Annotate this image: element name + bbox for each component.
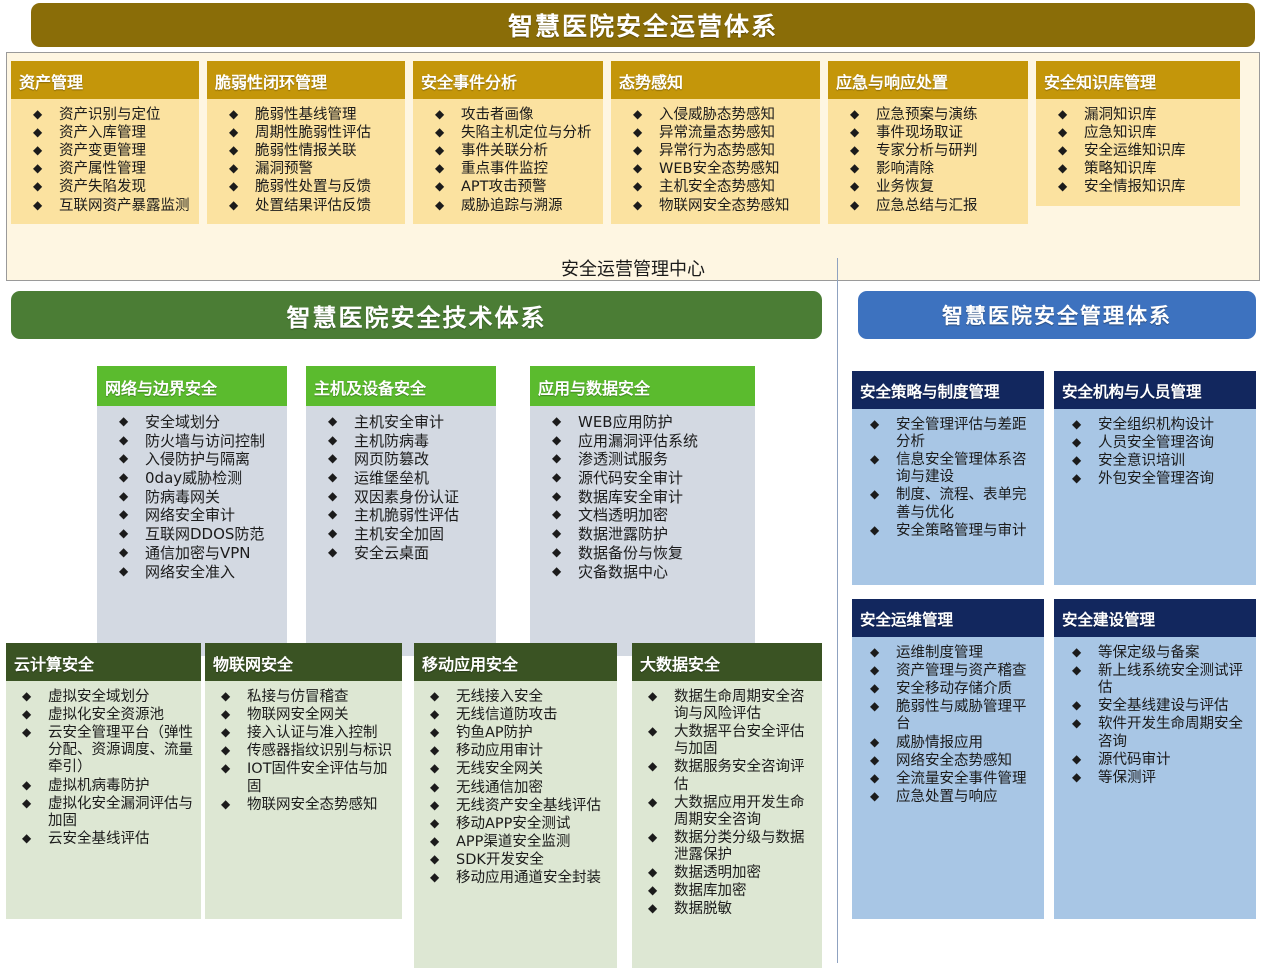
diamond-bullet-icon: ◆ bbox=[850, 107, 876, 122]
list-item-label: 传感器指纹识别与标识 bbox=[247, 743, 396, 760]
list-item[interactable]: ◆通信加密与VPN bbox=[101, 545, 281, 563]
list-item-label: 外包安全管理咨询 bbox=[1098, 471, 1250, 488]
diamond-bullet-icon: ◆ bbox=[119, 451, 145, 466]
list-item-label: 数据库安全审计 bbox=[578, 489, 749, 507]
list-item[interactable]: ◆应急处置与响应 bbox=[856, 789, 1038, 806]
list-item-label: 资产失陷发现 bbox=[59, 179, 193, 196]
list-item[interactable]: ◆安全基线建设与评估 bbox=[1058, 698, 1250, 715]
item-list: ◆安全组织机构设计◆人员安全管理咨询◆安全意识培训◆外包安全管理咨询 bbox=[1058, 417, 1250, 488]
list-item-label: 虚拟机病毒防护 bbox=[48, 778, 195, 795]
list-item[interactable]: ◆无线资产安全基线评估 bbox=[418, 798, 611, 815]
ops-card-emergency-response[interactable]: 应急与响应处置 ◆应急预案与演练◆事件现场取证◆专家分析与研判◆影响清除◆业务恢… bbox=[828, 61, 1028, 224]
ops-card-knowledge-base[interactable]: 安全知识库管理 ◆漏洞知识库◆应急知识库◆安全运维知识库◆策略知识库◆安全情报知… bbox=[1036, 61, 1240, 206]
card-title: 云计算安全 bbox=[6, 643, 201, 681]
list-item[interactable]: ◆资产入库管理 bbox=[15, 125, 193, 142]
diamond-bullet-icon: ◆ bbox=[850, 198, 876, 213]
list-item-label: 事件现场取证 bbox=[876, 125, 1022, 142]
list-item[interactable]: ◆漏洞预警 bbox=[211, 161, 399, 178]
list-item-label: 物联网安全态势感知 bbox=[659, 198, 814, 215]
list-item[interactable]: ◆等保定级与备案 bbox=[1058, 645, 1250, 662]
diamond-bullet-icon: ◆ bbox=[850, 125, 876, 140]
list-item-label: 私接与仿冒稽查 bbox=[247, 689, 396, 706]
list-item-label: 渗透测试服务 bbox=[578, 451, 749, 469]
list-item-label: 安全云桌面 bbox=[354, 545, 490, 563]
list-item[interactable]: ◆SDK开发安全 bbox=[418, 852, 611, 869]
list-item[interactable]: ◆资产失陷发现 bbox=[15, 179, 193, 196]
list-item[interactable]: ◆资产识别与定位 bbox=[15, 107, 193, 124]
list-item[interactable]: ◆防火墙与访问控制 bbox=[101, 433, 281, 451]
list-item[interactable]: ◆应急知识库 bbox=[1040, 125, 1234, 142]
diamond-bullet-icon: ◆ bbox=[430, 870, 456, 885]
list-item[interactable]: ◆策略知识库 bbox=[1040, 161, 1234, 178]
list-item[interactable]: ◆周期性脆弱性评估 bbox=[211, 125, 399, 142]
list-item[interactable]: ◆数据库安全审计 bbox=[534, 489, 749, 507]
list-item-label: WEB安全态势感知 bbox=[659, 161, 814, 178]
diamond-bullet-icon: ◆ bbox=[435, 161, 461, 176]
list-item[interactable]: ◆IOT固件安全评估与加固 bbox=[209, 761, 396, 795]
diamond-bullet-icon: ◆ bbox=[870, 487, 896, 502]
card-title: 脆弱性闭环管理 bbox=[207, 61, 405, 99]
list-item[interactable]: ◆灾备数据中心 bbox=[534, 564, 749, 582]
diamond-bullet-icon: ◆ bbox=[435, 143, 461, 158]
diamond-bullet-icon: ◆ bbox=[221, 707, 247, 722]
list-item[interactable]: ◆移动应用审计 bbox=[418, 743, 611, 760]
diamond-bullet-icon: ◆ bbox=[430, 780, 456, 795]
list-item[interactable]: ◆虚拟安全域划分 bbox=[10, 689, 195, 706]
item-list: ◆无线接入安全◆无线信道防攻击◆钓鱼AP防护◆移动应用审计◆无线安全网关◆无线通… bbox=[418, 689, 611, 887]
diamond-bullet-icon: ◆ bbox=[221, 761, 247, 776]
list-item[interactable]: ◆脆弱性与威胁管理平台 bbox=[856, 699, 1038, 733]
list-item[interactable]: ◆物联网安全网关 bbox=[209, 707, 396, 724]
list-item-label: 安全运维知识库 bbox=[1084, 143, 1234, 160]
list-item[interactable]: ◆虚拟化安全资源池 bbox=[10, 707, 195, 724]
card-body: ◆安全管理评估与差距分析◆信息安全管理体系咨询与建设◆制度、流程、表单完善与优化… bbox=[852, 409, 1044, 585]
card-title: 安全运维管理 bbox=[852, 599, 1044, 637]
card-title: 安全事件分析 bbox=[413, 61, 603, 99]
list-item-label: 威胁情报应用 bbox=[896, 735, 1038, 752]
list-item[interactable]: ◆移动APP安全测试 bbox=[418, 816, 611, 833]
list-item-label: 人员安全管理咨询 bbox=[1098, 435, 1250, 452]
diamond-bullet-icon: ◆ bbox=[33, 179, 59, 194]
list-item[interactable]: ◆大数据平台安全评估与加固 bbox=[636, 724, 816, 758]
diamond-bullet-icon: ◆ bbox=[328, 470, 354, 485]
list-item[interactable]: ◆应用漏洞评估系统 bbox=[534, 433, 749, 451]
list-item[interactable]: ◆无线接入安全 bbox=[418, 689, 611, 706]
list-item[interactable]: ◆无线通信加密 bbox=[418, 780, 611, 797]
diamond-bullet-icon: ◆ bbox=[22, 778, 48, 793]
diamond-bullet-icon: ◆ bbox=[430, 816, 456, 831]
list-item[interactable]: ◆安全运维知识库 bbox=[1040, 143, 1234, 160]
list-item[interactable]: ◆安全管理评估与差距分析 bbox=[856, 417, 1038, 451]
item-list: ◆攻击者画像◆失陷主机定位与分析◆事件关联分析◆重点事件监控◆APT攻击预警◆威… bbox=[417, 107, 597, 215]
diamond-bullet-icon: ◆ bbox=[328, 489, 354, 504]
list-item-label: 网页防篡改 bbox=[354, 451, 490, 469]
list-item[interactable]: ◆脆弱性基线管理 bbox=[211, 107, 399, 124]
card-title: 安全机构与人员管理 bbox=[1054, 371, 1256, 409]
list-item[interactable]: ◆数据库加密 bbox=[636, 883, 816, 900]
diamond-bullet-icon: ◆ bbox=[1058, 179, 1084, 194]
list-item-label: APP渠道安全监测 bbox=[456, 834, 611, 851]
diamond-bullet-icon: ◆ bbox=[633, 161, 659, 176]
card-title: 移动应用安全 bbox=[414, 643, 617, 681]
diamond-bullet-icon: ◆ bbox=[22, 725, 48, 740]
mgmt-card-organization-personnel-management[interactable]: 安全机构与人员管理 ◆安全组织机构设计◆人员安全管理咨询◆安全意识培训◆外包安全… bbox=[1054, 371, 1256, 585]
list-item-label: 主机防病毒 bbox=[354, 433, 490, 451]
list-item-label: 移动应用审计 bbox=[456, 743, 611, 760]
tech-card-big-data-security[interactable]: 大数据安全 ◆数据生命周期安全咨询与风险评估◆大数据平台安全评估与加固◆数据服务… bbox=[632, 643, 822, 968]
list-item[interactable]: ◆主机脆弱性评估 bbox=[310, 507, 490, 525]
card-title: 物联网安全 bbox=[205, 643, 402, 681]
list-item[interactable]: ◆云安全基线评估 bbox=[10, 831, 195, 848]
list-item-label: 全流量安全事件管理 bbox=[896, 771, 1038, 788]
diamond-bullet-icon: ◆ bbox=[33, 107, 59, 122]
list-item[interactable]: ◆安全移动存储介质 bbox=[856, 681, 1038, 698]
list-item[interactable]: ◆网络安全审计 bbox=[101, 507, 281, 525]
list-item-label: 威胁追踪与溯源 bbox=[461, 198, 597, 215]
list-item-label: 安全管理评估与差距分析 bbox=[896, 417, 1038, 451]
list-item-label: 软件开发生命周期安全咨询 bbox=[1098, 716, 1250, 750]
list-item-label: 数据库加密 bbox=[674, 883, 816, 900]
ops-card-security-incident-analysis[interactable]: 安全事件分析 ◆攻击者画像◆失陷主机定位与分析◆事件关联分析◆重点事件监控◆AP… bbox=[413, 61, 603, 224]
list-item-label: 源代码审计 bbox=[1098, 752, 1250, 769]
list-item-label: 主机脆弱性评估 bbox=[354, 507, 490, 525]
list-item[interactable]: ◆资产属性管理 bbox=[15, 161, 193, 178]
diamond-bullet-icon: ◆ bbox=[870, 789, 896, 804]
list-item-label: 脆弱性基线管理 bbox=[255, 107, 399, 124]
list-item[interactable]: ◆影响清除 bbox=[832, 161, 1022, 178]
list-item-label: 资产识别与定位 bbox=[59, 107, 193, 124]
list-item-label: 脆弱性处置与反馈 bbox=[255, 179, 399, 196]
diamond-bullet-icon: ◆ bbox=[430, 798, 456, 813]
diamond-bullet-icon: ◆ bbox=[633, 179, 659, 194]
list-item[interactable]: ◆互联网DDOS防范 bbox=[101, 526, 281, 544]
list-item-label: 网络安全态势感知 bbox=[896, 753, 1038, 770]
list-item[interactable]: ◆处置结果评估反馈 bbox=[211, 198, 399, 215]
list-item[interactable]: ◆接入认证与准入控制 bbox=[209, 725, 396, 742]
card-body: ◆主机安全审计◆主机防病毒◆网页防篡改◆运维堡垒机◆双因素身份认证◆主机脆弱性评… bbox=[306, 406, 496, 656]
list-item-label: 主机安全态势感知 bbox=[659, 179, 814, 196]
diamond-bullet-icon: ◆ bbox=[552, 545, 578, 560]
list-item[interactable]: ◆物联网安全态势感知 bbox=[615, 198, 814, 215]
diamond-bullet-icon: ◆ bbox=[552, 414, 578, 429]
card-body: ◆漏洞知识库◆应急知识库◆安全运维知识库◆策略知识库◆安全情报知识库 bbox=[1036, 99, 1240, 206]
list-item-label: 网络安全审计 bbox=[145, 507, 281, 525]
list-item[interactable]: ◆钓鱼AP防护 bbox=[418, 725, 611, 742]
item-list: ◆等保定级与备案◆新上线系统安全测试评估◆安全基线建设与评估◆软件开发生命周期安… bbox=[1058, 645, 1250, 787]
list-item-label: 移动APP安全测试 bbox=[456, 816, 611, 833]
list-item-label: 文档透明加密 bbox=[578, 507, 749, 525]
list-item[interactable]: ◆数据泄露防护 bbox=[534, 526, 749, 544]
mgmt-card-security-operations-management[interactable]: 安全运维管理 ◆运维制度管理◆资产管理与资产稽查◆安全移动存储介质◆脆弱性与威胁… bbox=[852, 599, 1044, 919]
list-item-label: SDK开发安全 bbox=[456, 852, 611, 869]
diamond-bullet-icon: ◆ bbox=[33, 161, 59, 176]
list-item-label: 云安全基线评估 bbox=[48, 831, 195, 848]
list-item[interactable]: ◆安全组织机构设计 bbox=[1058, 417, 1250, 434]
list-item[interactable]: ◆业务恢复 bbox=[832, 179, 1022, 196]
list-item[interactable]: ◆数据服务安全咨询评估 bbox=[636, 759, 816, 793]
list-item[interactable]: ◆无线安全网关 bbox=[418, 761, 611, 778]
operations-center-label: 安全运营管理中心 bbox=[6, 255, 1260, 281]
list-item[interactable]: ◆人员安全管理咨询 bbox=[1058, 435, 1250, 452]
diamond-bullet-icon: ◆ bbox=[1058, 161, 1084, 176]
item-list: ◆运维制度管理◆资产管理与资产稽查◆安全移动存储介质◆脆弱性与威胁管理平台◆威胁… bbox=[856, 645, 1038, 806]
list-item[interactable]: ◆攻击者画像 bbox=[417, 107, 597, 124]
ops-card-situational-awareness[interactable]: 态势感知 ◆入侵威胁态势感知◆异常流量态势感知◆异常行为态势感知◆WEB安全态势… bbox=[611, 61, 820, 224]
tech-card-host-device-security[interactable]: 主机及设备安全 ◆主机安全审计◆主机防病毒◆网页防篡改◆运维堡垒机◆双因素身份认… bbox=[306, 366, 496, 656]
list-item[interactable]: ◆资产变更管理 bbox=[15, 143, 193, 160]
diamond-bullet-icon: ◆ bbox=[119, 545, 145, 560]
list-item[interactable]: ◆制度、流程、表单完善与优化 bbox=[856, 487, 1038, 521]
list-item[interactable]: ◆漏洞知识库 bbox=[1040, 107, 1234, 124]
list-item-label: 安全组织机构设计 bbox=[1098, 417, 1250, 434]
diamond-bullet-icon: ◆ bbox=[633, 198, 659, 213]
card-title: 大数据安全 bbox=[632, 643, 822, 681]
card-title: 网络与边界安全 bbox=[97, 366, 287, 406]
list-item-label: 应急处置与响应 bbox=[896, 789, 1038, 806]
diamond-bullet-icon: ◆ bbox=[648, 901, 674, 916]
diamond-bullet-icon: ◆ bbox=[435, 179, 461, 194]
list-item-label: 云安全管理平台（弹性分配、资源调度、流量牵引） bbox=[48, 725, 195, 776]
list-item[interactable]: ◆网络安全态势感知 bbox=[856, 753, 1038, 770]
diamond-bullet-icon: ◆ bbox=[1072, 453, 1098, 468]
list-item-label: 漏洞预警 bbox=[255, 161, 399, 178]
card-title: 安全策略与制度管理 bbox=[852, 371, 1044, 409]
diamond-bullet-icon: ◆ bbox=[430, 725, 456, 740]
diamond-bullet-icon: ◆ bbox=[870, 645, 896, 660]
diamond-bullet-icon: ◆ bbox=[33, 198, 59, 213]
list-item-label: 等保测评 bbox=[1098, 770, 1250, 787]
list-item-label: 应急总结与汇报 bbox=[876, 198, 1022, 215]
list-item[interactable]: ◆源代码审计 bbox=[1058, 752, 1250, 769]
list-item[interactable]: ◆重点事件监控 bbox=[417, 161, 597, 178]
list-item[interactable]: ◆资产管理与资产稽查 bbox=[856, 663, 1038, 680]
diamond-bullet-icon: ◆ bbox=[22, 689, 48, 704]
list-item[interactable]: ◆网页防篡改 bbox=[310, 451, 490, 469]
list-item[interactable]: ◆入侵威胁态势感知 bbox=[615, 107, 814, 124]
diamond-bullet-icon: ◆ bbox=[119, 489, 145, 504]
list-item[interactable]: ◆防病毒网关 bbox=[101, 489, 281, 507]
card-body: ◆等保定级与备案◆新上线系统安全测试评估◆安全基线建设与评估◆软件开发生命周期安… bbox=[1054, 637, 1256, 919]
list-item-label: 防病毒网关 bbox=[145, 489, 281, 507]
diamond-bullet-icon: ◆ bbox=[648, 689, 674, 704]
diamond-bullet-icon: ◆ bbox=[328, 414, 354, 429]
list-item-label: 攻击者画像 bbox=[461, 107, 597, 124]
diamond-bullet-icon: ◆ bbox=[648, 865, 674, 880]
list-item[interactable]: ◆传感器指纹识别与标识 bbox=[209, 743, 396, 760]
diamond-bullet-icon: ◆ bbox=[1072, 752, 1098, 767]
list-item[interactable]: ◆安全云桌面 bbox=[310, 545, 490, 563]
tech-card-iot-security[interactable]: 物联网安全 ◆私接与仿冒稽查◆物联网安全网关◆接入认证与准入控制◆传感器指纹识别… bbox=[205, 643, 402, 919]
list-item[interactable]: ◆运维堡垒机 bbox=[310, 470, 490, 488]
list-item[interactable]: ◆软件开发生命周期安全咨询 bbox=[1058, 716, 1250, 750]
list-item[interactable]: ◆主机安全加固 bbox=[310, 526, 490, 544]
diamond-bullet-icon: ◆ bbox=[1058, 143, 1084, 158]
list-item-label: 无线资产安全基线评估 bbox=[456, 798, 611, 815]
list-item[interactable]: ◆主机安全态势感知 bbox=[615, 179, 814, 196]
list-item-label: 处置结果评估反馈 bbox=[255, 198, 399, 215]
list-item[interactable]: ◆数据备份与恢复 bbox=[534, 545, 749, 563]
list-item[interactable]: ◆大数据应用开发生命周期安全咨询 bbox=[636, 795, 816, 829]
list-item[interactable]: ◆信息安全管理体系咨询与建设 bbox=[856, 452, 1038, 486]
list-item[interactable]: ◆全流量安全事件管理 bbox=[856, 771, 1038, 788]
list-item[interactable]: ◆互联网资产暴露监测 bbox=[15, 198, 193, 215]
card-body: ◆运维制度管理◆资产管理与资产稽查◆安全移动存储介质◆脆弱性与威胁管理平台◆威胁… bbox=[852, 637, 1044, 919]
card-title: 安全建设管理 bbox=[1054, 599, 1256, 637]
tech-card-mobile-application-security[interactable]: 移动应用安全 ◆无线接入安全◆无线信道防攻击◆钓鱼AP防护◆移动应用审计◆无线安… bbox=[414, 643, 617, 968]
list-item-label: 灾备数据中心 bbox=[578, 564, 749, 582]
list-item-label: 资产变更管理 bbox=[59, 143, 193, 160]
list-item-label: 安全情报知识库 bbox=[1084, 179, 1234, 196]
list-item[interactable]: ◆脆弱性处置与反馈 bbox=[211, 179, 399, 196]
diamond-bullet-icon: ◆ bbox=[119, 433, 145, 448]
list-item-label: 脆弱性与威胁管理平台 bbox=[896, 699, 1038, 733]
list-item[interactable]: ◆威胁情报应用 bbox=[856, 735, 1038, 752]
diamond-bullet-icon: ◆ bbox=[229, 107, 255, 122]
list-item[interactable]: ◆应急总结与汇报 bbox=[832, 198, 1022, 215]
list-item-label: 无线通信加密 bbox=[456, 780, 611, 797]
list-item[interactable]: ◆移动应用通道安全封装 bbox=[418, 870, 611, 887]
list-item[interactable]: ◆事件现场取证 bbox=[832, 125, 1022, 142]
list-item[interactable]: ◆新上线系统安全测试评估 bbox=[1058, 663, 1250, 697]
diamond-bullet-icon: ◆ bbox=[633, 125, 659, 140]
list-item[interactable]: ◆数据分类分级与数据泄露保护 bbox=[636, 830, 816, 864]
list-item[interactable]: ◆入侵防护与隔离 bbox=[101, 451, 281, 469]
item-list: ◆入侵威胁态势感知◆异常流量态势感知◆异常行为态势感知◆WEB安全态势感知◆主机… bbox=[615, 107, 814, 215]
list-item[interactable]: ◆事件关联分析 bbox=[417, 143, 597, 160]
mgmt-card-policy-system-management[interactable]: 安全策略与制度管理 ◆安全管理评估与差距分析◆信息安全管理体系咨询与建设◆制度、… bbox=[852, 371, 1044, 585]
list-item[interactable]: ◆网络安全准入 bbox=[101, 564, 281, 582]
list-item-label: 影响清除 bbox=[876, 161, 1022, 178]
diamond-bullet-icon: ◆ bbox=[648, 830, 674, 845]
list-item[interactable]: ◆文档透明加密 bbox=[534, 507, 749, 525]
list-item-label: 互联网DDOS防范 bbox=[145, 526, 281, 544]
diamond-bullet-icon: ◆ bbox=[229, 125, 255, 140]
list-item[interactable]: ◆安全域划分 bbox=[101, 414, 281, 432]
list-item[interactable]: ◆异常流量态势感知 bbox=[615, 125, 814, 142]
diamond-bullet-icon: ◆ bbox=[870, 771, 896, 786]
list-item-label: 双因素身份认证 bbox=[354, 489, 490, 507]
list-item-label: 专家分析与研判 bbox=[876, 143, 1022, 160]
list-item[interactable]: ◆数据透明加密 bbox=[636, 865, 816, 882]
list-item[interactable]: ◆专家分析与研判 bbox=[832, 143, 1022, 160]
list-item[interactable]: ◆WEB安全态势感知 bbox=[615, 161, 814, 178]
diamond-bullet-icon: ◆ bbox=[1072, 698, 1098, 713]
diamond-bullet-icon: ◆ bbox=[648, 795, 674, 810]
diamond-bullet-icon: ◆ bbox=[1072, 770, 1098, 785]
list-item[interactable]: ◆脆弱性情报关联 bbox=[211, 143, 399, 160]
list-item[interactable]: ◆失陷主机定位与分析 bbox=[417, 125, 597, 142]
list-item[interactable]: ◆私接与仿冒稽查 bbox=[209, 689, 396, 706]
diamond-bullet-icon: ◆ bbox=[552, 451, 578, 466]
list-item[interactable]: ◆APT攻击预警 bbox=[417, 179, 597, 196]
list-item[interactable]: ◆数据生命周期安全咨询与风险评估 bbox=[636, 689, 816, 723]
item-list: ◆脆弱性基线管理◆周期性脆弱性评估◆脆弱性情报关联◆漏洞预警◆脆弱性处置与反馈◆… bbox=[211, 107, 399, 215]
list-item-label: 异常行为态势感知 bbox=[659, 143, 814, 160]
mgmt-card-security-construction-management[interactable]: 安全建设管理 ◆等保定级与备案◆新上线系统安全测试评估◆安全基线建设与评估◆软件… bbox=[1054, 599, 1256, 919]
list-item[interactable]: ◆威胁追踪与溯源 bbox=[417, 198, 597, 215]
section-divider bbox=[837, 258, 838, 963]
list-item[interactable]: ◆运维制度管理 bbox=[856, 645, 1038, 662]
diamond-bullet-icon: ◆ bbox=[328, 507, 354, 522]
diamond-bullet-icon: ◆ bbox=[119, 564, 145, 579]
tech-card-application-data-security[interactable]: 应用与数据安全 ◆WEB应用防护◆应用漏洞评估系统◆渗透测试服务◆源代码安全审计… bbox=[530, 366, 755, 656]
diamond-bullet-icon: ◆ bbox=[33, 143, 59, 158]
diamond-bullet-icon: ◆ bbox=[870, 663, 896, 678]
list-item-label: 事件关联分析 bbox=[461, 143, 597, 160]
list-item-label: 异常流量态势感知 bbox=[659, 125, 814, 142]
list-item[interactable]: ◆0day威胁检测 bbox=[101, 470, 281, 488]
list-item[interactable]: ◆异常行为态势感知 bbox=[615, 143, 814, 160]
list-item[interactable]: ◆双因素身份认证 bbox=[310, 489, 490, 507]
list-item[interactable]: ◆APP渠道安全监测 bbox=[418, 834, 611, 851]
list-item-label: 虚拟安全域划分 bbox=[48, 689, 195, 706]
diamond-bullet-icon: ◆ bbox=[870, 417, 896, 432]
diamond-bullet-icon: ◆ bbox=[328, 526, 354, 541]
card-body: ◆脆弱性基线管理◆周期性脆弱性评估◆脆弱性情报关联◆漏洞预警◆脆弱性处置与反馈◆… bbox=[207, 99, 405, 224]
card-body: ◆虚拟安全域划分◆虚拟化安全资源池◆云安全管理平台（弹性分配、资源调度、流量牵引… bbox=[6, 681, 201, 919]
ops-card-asset-management[interactable]: 资产管理 ◆资产识别与定位◆资产入库管理◆资产变更管理◆资产属性管理◆资产失陷发… bbox=[11, 61, 199, 224]
list-item-label: 资产入库管理 bbox=[59, 125, 193, 142]
list-item[interactable]: ◆物联网安全态势感知 bbox=[209, 797, 396, 814]
list-item[interactable]: ◆无线信道防攻击 bbox=[418, 707, 611, 724]
diamond-bullet-icon: ◆ bbox=[119, 470, 145, 485]
list-item-label: 网络安全准入 bbox=[145, 564, 281, 582]
list-item[interactable]: ◆主机防病毒 bbox=[310, 433, 490, 451]
tech-card-network-boundary-security[interactable]: 网络与边界安全 ◆安全域划分◆防火墙与访问控制◆入侵防护与隔离◆0day威胁检测… bbox=[97, 366, 287, 656]
list-item[interactable]: ◆安全情报知识库 bbox=[1040, 179, 1234, 196]
list-item-label: 安全移动存储介质 bbox=[896, 681, 1038, 698]
list-item-label: 新上线系统安全测试评估 bbox=[1098, 663, 1250, 697]
list-item-label: 失陷主机定位与分析 bbox=[461, 125, 597, 142]
list-item[interactable]: ◆WEB应用防护 bbox=[534, 414, 749, 432]
list-item-label: 业务恢复 bbox=[876, 179, 1022, 196]
diamond-bullet-icon: ◆ bbox=[229, 143, 255, 158]
list-item[interactable]: ◆数据脱敏 bbox=[636, 901, 816, 918]
item-list: ◆漏洞知识库◆应急知识库◆安全运维知识库◆策略知识库◆安全情报知识库 bbox=[1040, 107, 1234, 197]
list-item[interactable]: ◆主机安全审计 bbox=[310, 414, 490, 432]
list-item[interactable]: ◆应急预案与演练 bbox=[832, 107, 1022, 124]
list-item-label: 脆弱性情报关联 bbox=[255, 143, 399, 160]
list-item[interactable]: ◆安全策略管理与审计 bbox=[856, 523, 1038, 540]
list-item[interactable]: ◆等保测评 bbox=[1058, 770, 1250, 787]
list-item[interactable]: ◆外包安全管理咨询 bbox=[1058, 471, 1250, 488]
list-item[interactable]: ◆虚拟化安全漏洞评估与加固 bbox=[10, 796, 195, 830]
diamond-bullet-icon: ◆ bbox=[22, 707, 48, 722]
card-body: ◆安全域划分◆防火墙与访问控制◆入侵防护与隔离◆0day威胁检测◆防病毒网关◆网… bbox=[97, 406, 287, 656]
list-item-label: 制度、流程、表单完善与优化 bbox=[896, 487, 1038, 521]
card-body: ◆数据生命周期安全咨询与风险评估◆大数据平台安全评估与加固◆数据服务安全咨询评估… bbox=[632, 681, 822, 968]
list-item-label: 物联网安全态势感知 bbox=[247, 797, 396, 814]
tech-card-cloud-computing-security[interactable]: 云计算安全 ◆虚拟安全域划分◆虚拟化安全资源池◆云安全管理平台（弹性分配、资源调… bbox=[6, 643, 201, 919]
list-item-label: 无线信道防攻击 bbox=[456, 707, 611, 724]
list-item[interactable]: ◆安全意识培训 bbox=[1058, 453, 1250, 470]
list-item[interactable]: ◆源代码安全审计 bbox=[534, 470, 749, 488]
ops-card-vulnerability-closed-loop[interactable]: 脆弱性闭环管理 ◆脆弱性基线管理◆周期性脆弱性评估◆脆弱性情报关联◆漏洞预警◆脆… bbox=[207, 61, 405, 224]
list-item-label: 无线安全网关 bbox=[456, 761, 611, 778]
list-item[interactable]: ◆虚拟机病毒防护 bbox=[10, 778, 195, 795]
diamond-bullet-icon: ◆ bbox=[552, 564, 578, 579]
list-item[interactable]: ◆渗透测试服务 bbox=[534, 451, 749, 469]
diamond-bullet-icon: ◆ bbox=[229, 198, 255, 213]
list-item-label: 数据生命周期安全咨询与风险评估 bbox=[674, 689, 816, 723]
list-item[interactable]: ◆云安全管理平台（弹性分配、资源调度、流量牵引） bbox=[10, 725, 195, 776]
diamond-bullet-icon: ◆ bbox=[850, 161, 876, 176]
list-item-label: 等保定级与备案 bbox=[1098, 645, 1250, 662]
technology-banner: 智慧医院安全技术体系 bbox=[11, 291, 822, 339]
diamond-bullet-icon: ◆ bbox=[870, 735, 896, 750]
diamond-bullet-icon: ◆ bbox=[870, 681, 896, 696]
item-list: ◆主机安全审计◆主机防病毒◆网页防篡改◆运维堡垒机◆双因素身份认证◆主机脆弱性评… bbox=[310, 414, 490, 563]
